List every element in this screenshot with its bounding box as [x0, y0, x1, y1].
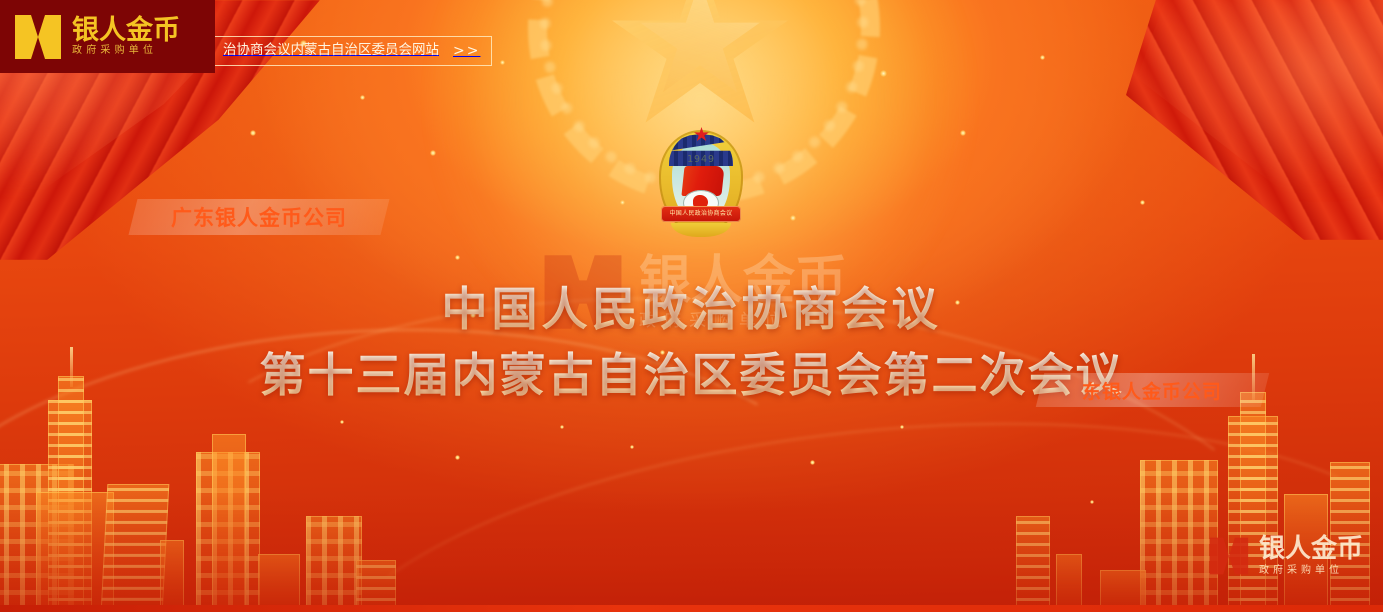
chevron-right-icon: >>: [453, 44, 480, 58]
bottom-accent-bar: [0, 605, 1383, 612]
sparkle: [1140, 200, 1145, 205]
brand-title: 银人金币: [72, 17, 180, 44]
sparkle: [250, 130, 256, 136]
cppcc-site-link[interactable]: 治协商会议内蒙古自治区委员会网站 >>: [213, 36, 492, 66]
emblem-year: 1949: [653, 154, 749, 165]
cppcc-emblem: 1949 中国人民政治协商会议: [653, 118, 749, 244]
yinren-h-monogram-icon: [13, 13, 63, 61]
sparkle: [455, 255, 460, 260]
watermark-bar-left-text: 广东银人金币公司: [171, 202, 347, 232]
sparkle: [360, 95, 365, 100]
site-link-label: 治协商会议内蒙古自治区委员会网站: [223, 44, 439, 58]
brand-logo-text: 银人金币 政府采购单位: [72, 17, 180, 56]
emblem-ribbon-text: 中国人民政治协商会议: [661, 208, 741, 217]
emblem-base: [671, 223, 731, 237]
banner-stage: 1949 中国人民政治协商会议 银人金币 政府采购单位 中国人民政治协商会议 第…: [0, 0, 1383, 612]
sparkle: [1040, 55, 1045, 60]
brand-subtitle: 政府采购单位: [72, 46, 180, 56]
headline-group: 中国人民政治协商会议 第十三届内蒙古自治区委员会第二次会议: [0, 282, 1383, 403]
headline-line-1: 中国人民政治协商会议: [0, 282, 1383, 336]
watermark-bar-left: 广东银人金币公司: [129, 199, 390, 235]
bottom-vignette: [0, 492, 1383, 612]
headline-line-2: 第十三届内蒙古自治区委员会第二次会议: [0, 348, 1383, 402]
brand-logo-block[interactable]: 银人金币 政府采购单位: [0, 0, 215, 73]
